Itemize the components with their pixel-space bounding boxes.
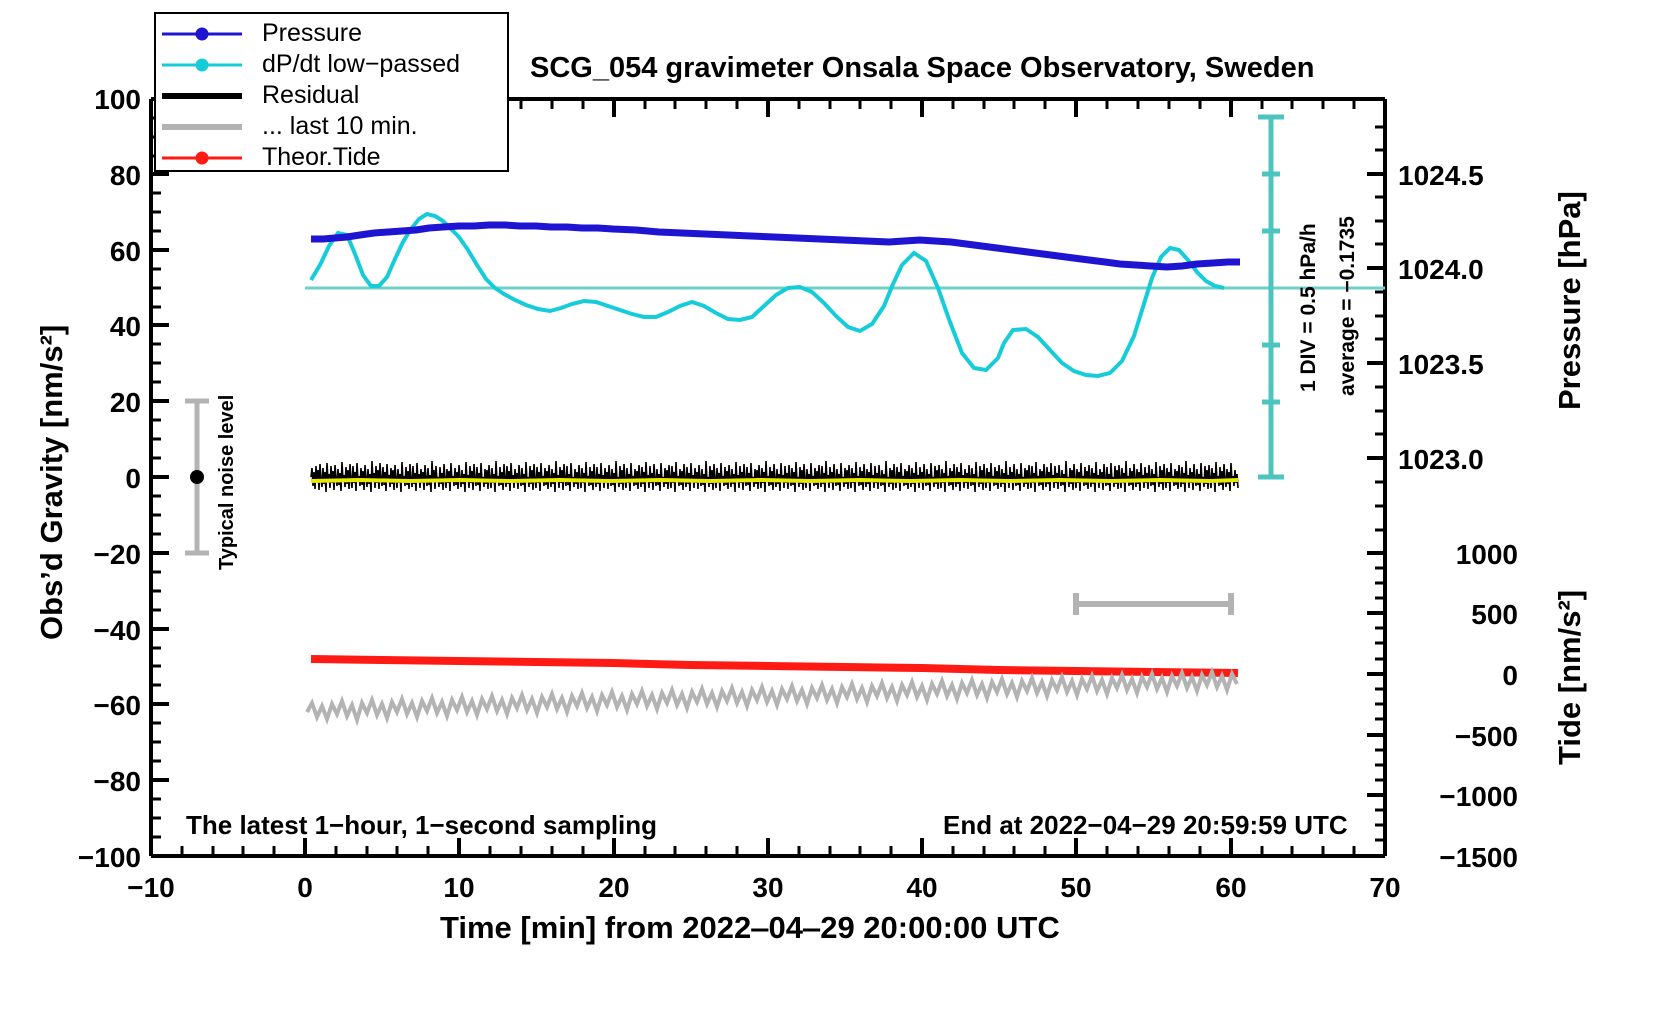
legend-item-dpdt: dP/dt low−passed [156,49,507,80]
legend-label: Pressure [248,19,362,48]
y-tick-label: 60 [85,236,141,268]
y-tick-label: 80 [85,160,141,192]
y-tick-label: −100 [45,842,141,874]
legend-swatch-dpdt [156,49,248,80]
legend-label: Residual [248,81,359,110]
y-axis-title-tide: Tide [nm/s²] [1552,590,1588,765]
dpdt-scale-bar [1258,117,1284,477]
y-tick-label: 100 [85,84,141,116]
y-tick-label: 40 [85,311,141,343]
x-tick-label: −10 [111,872,191,904]
tide-tick-label: −1000 [1398,781,1518,813]
series-theor-tide [311,659,1238,673]
tide-tick-label: −500 [1398,721,1518,753]
legend-label: dP/dt low−passed [248,50,460,79]
y-tick-label: −60 [63,690,141,722]
y-tick-label: −20 [63,539,141,571]
footer-right-text: End at 2022−04−29 20:59:59 UTC [943,810,1348,841]
pressure-tick-label: 1023.0 [1398,444,1484,476]
y-tick-label: 20 [85,387,141,419]
legend-item-pressure: Pressure [156,18,507,49]
tide-tick-label: 500 [1398,599,1518,631]
y-tick-label: −80 [63,766,141,798]
legend-swatch-last-10-min [156,111,248,142]
x-tick-label: 50 [1046,872,1106,904]
right-axis-ticks [1367,174,1385,856]
series-residual [311,461,1238,492]
typical-noise-level-label: Typical noise level [216,395,239,570]
x-tick-label: 20 [584,872,644,904]
y-axis-title-pressure: Pressure [hPa] [1552,191,1588,410]
x-axis-title: Time [min] from 2022‒04‒29 20:00:00 UTC [440,910,1060,946]
typical-noise-level-marker [185,401,209,553]
pressure-tick-label: 1024.0 [1398,254,1484,286]
y-tick-label: −40 [63,615,141,647]
x-tick-label: 70 [1355,872,1415,904]
series-residual-smooth [311,480,1238,481]
legend-label: ... last 10 min. [248,112,418,141]
legend-swatch-residual [156,80,248,111]
legend-item-last-10-min: ... last 10 min. [156,111,507,142]
tide-tick-label: 0 [1398,660,1518,692]
pressure-tick-label: 1024.5 [1398,160,1484,192]
y-axis-title-left: Obs’d Gravity [nm/s²] [34,325,70,640]
x-tick-label: 30 [738,872,798,904]
legend-label: Theor.Tide [248,143,381,172]
last10-length-bar [1076,593,1231,615]
y-tick-label: 0 [85,463,141,495]
chart-figure: SCG_054 gravimeter Onsala Space Observat… [0,0,1660,1020]
legend-item-residual: Residual [156,80,507,111]
legend-swatch-pressure [156,18,248,49]
series-last-10-min [307,672,1237,720]
dpdt-scale-annotation: 1 DIV = 0.5 hPa/h [1297,223,1321,392]
footer-left-text: The latest 1−hour, 1−second sampling [186,810,657,841]
x-tick-label: 10 [429,872,489,904]
legend-swatch-theor-tide [156,142,248,173]
x-tick-label: 40 [892,872,952,904]
series-pressure [311,225,1240,267]
x-tick-label: 60 [1201,872,1261,904]
pressure-tick-label: 1023.5 [1398,349,1484,381]
x-tick-label: 0 [285,872,325,904]
tide-tick-label: 1000 [1398,539,1518,571]
legend-item-theor-tide: Theor.Tide [156,142,507,173]
legend: Pressure dP/dt low−passed Residual ... l… [154,12,509,172]
tide-tick-label: −1500 [1398,842,1518,874]
dpdt-average-annotation: average = −0.1735 [1336,216,1360,396]
